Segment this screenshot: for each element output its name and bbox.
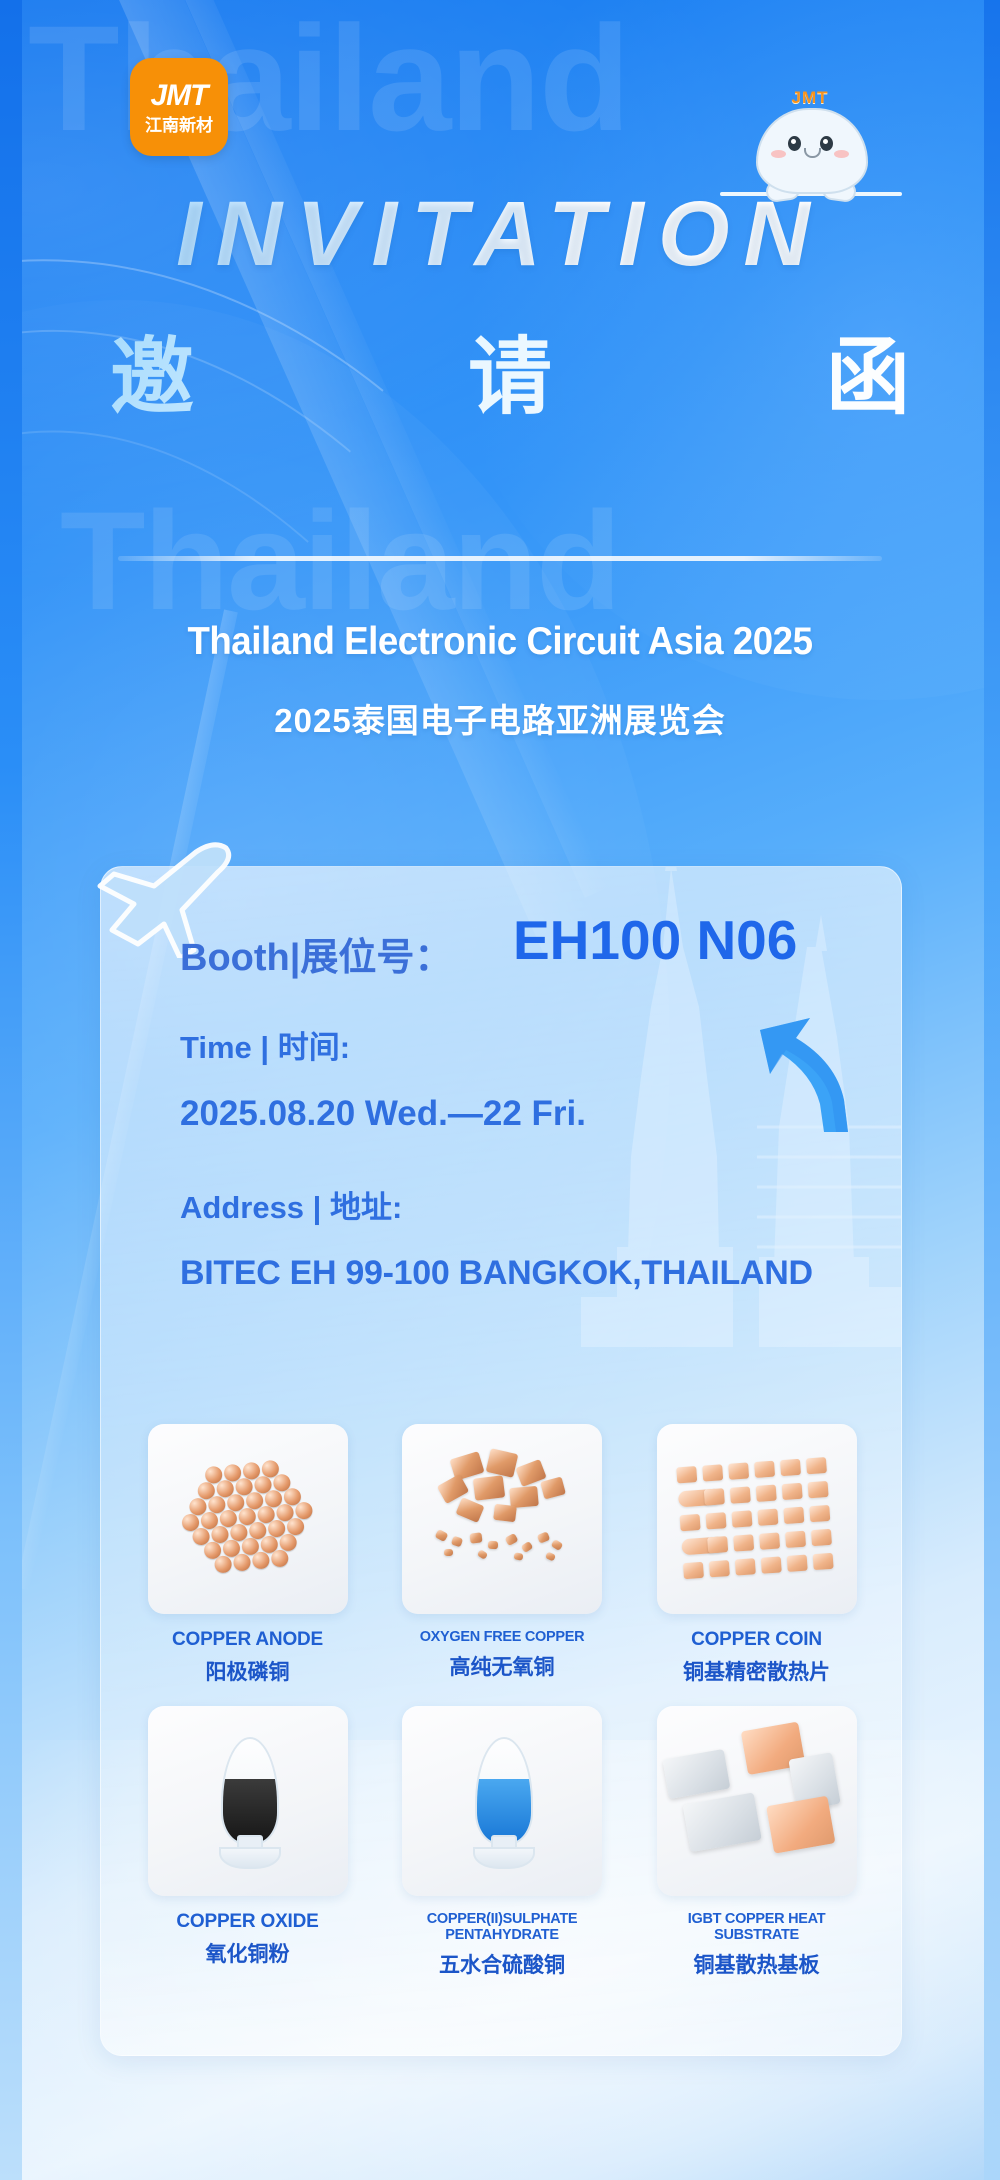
product-name-en: IGBT COPPER HEAT SUBSTRATE (649, 1912, 864, 1944)
copper-chunk (493, 1504, 517, 1523)
booth-label: Booth|展位号： (180, 926, 452, 981)
background-left-bar (0, 0, 22, 2180)
product-name-en: COPPER(II)SULPHATE PENTAHYDRATE (395, 1912, 610, 1944)
copper-balls-image (148, 1424, 348, 1614)
background-right-bar (984, 0, 1000, 2180)
copper-chunk (545, 1551, 556, 1561)
blue-crystal-flask-image (402, 1706, 602, 1896)
copper-ball (251, 1551, 270, 1570)
copper-coin-plate (731, 1510, 752, 1527)
copper-coin-plate (733, 1534, 754, 1551)
copper-chunk (486, 1448, 519, 1478)
product-name-en: COPPER ANODE (172, 1630, 323, 1651)
copper-coin-plate (754, 1461, 775, 1478)
title-divider (118, 556, 882, 561)
copper-coin-plate (785, 1531, 806, 1548)
copper-coin-plate (702, 1464, 723, 1481)
product-name-en: COPPER OXIDE (176, 1912, 318, 1933)
copper-coin-plate (707, 1536, 728, 1553)
copper-coin-plate (680, 1514, 701, 1531)
copper-coin-plate (735, 1558, 756, 1575)
copper-chunk (513, 1552, 523, 1561)
copper-ball (213, 1555, 232, 1574)
copper-coin-plate (806, 1457, 827, 1474)
product-name-en: OXYGEN FREE COPPER (420, 1630, 585, 1646)
copper-coin-plate (756, 1485, 777, 1502)
page-title-cn-char-1: 邀 (110, 310, 194, 431)
product-name-cn: 阳极磷铜 (206, 1656, 290, 1686)
copper-coin-plate (782, 1483, 803, 1500)
copper-chunk (435, 1529, 449, 1542)
copper-chunk (451, 1536, 463, 1548)
time-label: Time | 时间: (180, 1022, 350, 1067)
address-value: BITEC EH 99-100 BANGKOK,THAILAND (180, 1254, 813, 1293)
product-card-copper-anode[interactable]: COPPER ANODE 阳极磷铜 (140, 1424, 355, 1686)
address-label: Address | 地址: (180, 1182, 402, 1227)
copper-ball (232, 1553, 251, 1572)
watermark-thailand-top: Thailand (28, 0, 629, 165)
product-row-1: COPPER ANODE 阳极磷铜 OXYGEN FREE COPPER 高纯无… (140, 1424, 864, 1686)
product-name-cn: 铜基精密散热片 (683, 1656, 830, 1686)
booth-direction-arrow-icon (752, 996, 872, 1136)
copper-ball-array (167, 1451, 329, 1586)
mascot-eye-right (820, 136, 833, 151)
copper-coin-plate (683, 1562, 704, 1579)
copper-coin-plate (811, 1529, 832, 1546)
copper-coin-plate (813, 1553, 834, 1570)
flask-blue (459, 1731, 545, 1871)
time-value: 2025.08.20 Wed.—22 Fri. (180, 1094, 586, 1134)
copper-chunk-pile (422, 1449, 582, 1589)
copper-chunk (521, 1541, 534, 1553)
copper-chunk (551, 1539, 564, 1551)
product-row-2: COPPER OXIDE 氧化铜粉 COPPER(II)SULPHATE PEN… (140, 1706, 864, 1979)
copper-chunk (455, 1497, 484, 1523)
product-name-en: COPPER COIN (691, 1630, 822, 1651)
copper-chunk (537, 1531, 550, 1543)
copper-coin-plate (808, 1481, 829, 1498)
product-card-oxygen-free-copper[interactable]: OXYGEN FREE COPPER 高纯无氧铜 (395, 1424, 610, 1686)
copper-coin-plates (670, 1448, 844, 1589)
substrate-plates (657, 1712, 855, 1890)
product-card-copper-oxide[interactable]: COPPER OXIDE 氧化铜粉 (140, 1706, 355, 1979)
flask-black (205, 1731, 291, 1871)
booth-number-value: EH100 N06 (513, 908, 797, 972)
product-name-cn: 五水合硫酸铜 (439, 1949, 565, 1979)
product-name-cn: 高纯无氧铜 (450, 1651, 555, 1681)
mascot-eye-left (788, 136, 801, 151)
copper-coin-plate (787, 1555, 808, 1572)
watermark-thailand-mid: Thailand (60, 480, 620, 642)
page-title-cn-char-3: 函 (826, 310, 910, 431)
copper-coin-plate (783, 1507, 804, 1524)
copper-chunk (444, 1549, 453, 1556)
copper-coin-plate (759, 1532, 780, 1549)
copper-coin-plate (761, 1556, 782, 1573)
copper-ball (270, 1549, 289, 1568)
product-card-copper-coin[interactable]: COPPER COIN 铜基精密散热片 (649, 1424, 864, 1686)
copper-substrate-image (657, 1706, 857, 1896)
copper-chunk (473, 1475, 505, 1500)
copper-chunks-image (402, 1424, 602, 1614)
mascot-cheek-left (771, 150, 786, 158)
product-card-copper-sulphate[interactable]: COPPER(II)SULPHATE PENTAHYDRATE 五水合硫酸铜 (395, 1706, 610, 1979)
invitation-poster: Thailand Thailand JMT 江南新材 JMT INVITATIO… (0, 0, 1000, 2180)
event-name-en: Thailand Electronic Circuit Asia 2025 (30, 620, 970, 664)
page-title-en: INVITATION (0, 182, 1000, 287)
copper-chunk (540, 1476, 566, 1499)
copper-coin-plate (730, 1486, 751, 1503)
copper-coin-plate (809, 1505, 830, 1522)
mascot-label: JMT (792, 88, 829, 108)
copper-chunk (509, 1486, 539, 1508)
copper-coin-plate (728, 1462, 749, 1479)
copper-coin-plate (676, 1466, 697, 1483)
page-title-cn: 邀 请 函 (110, 310, 910, 431)
copper-chunk (477, 1549, 488, 1560)
copper-coin-plate (709, 1560, 730, 1577)
product-grid: COPPER ANODE 阳极磷铜 OXYGEN FREE COPPER 高纯无… (140, 1424, 864, 1999)
copper-chunk (469, 1532, 482, 1543)
logo-text-cn: 江南新材 (145, 117, 213, 134)
copper-coin-plate (757, 1509, 778, 1526)
product-card-igbt-substrate[interactable]: IGBT COPPER HEAT SUBSTRATE 铜基散热基板 (649, 1706, 864, 1979)
product-name-cn: 氧化铜粉 (206, 1938, 290, 1968)
copper-chunk (505, 1533, 519, 1546)
logo-text-en: JMT (151, 81, 208, 111)
page-title-cn-char-2: 请 (468, 310, 552, 431)
mascot-cheek-right (834, 150, 849, 158)
black-powder-flask-image (148, 1706, 348, 1896)
copper-coin-plate (704, 1488, 725, 1505)
copper-coin-image (657, 1424, 857, 1614)
jmt-logo: JMT 江南新材 (130, 58, 228, 156)
product-name-cn: 铜基散热基板 (694, 1949, 820, 1979)
copper-coin-plate (705, 1512, 726, 1529)
event-name-cn: 2025泰国电子电路亚洲展览会 (0, 694, 1000, 742)
copper-coin-plate (780, 1459, 801, 1476)
copper-chunk (488, 1541, 498, 1550)
